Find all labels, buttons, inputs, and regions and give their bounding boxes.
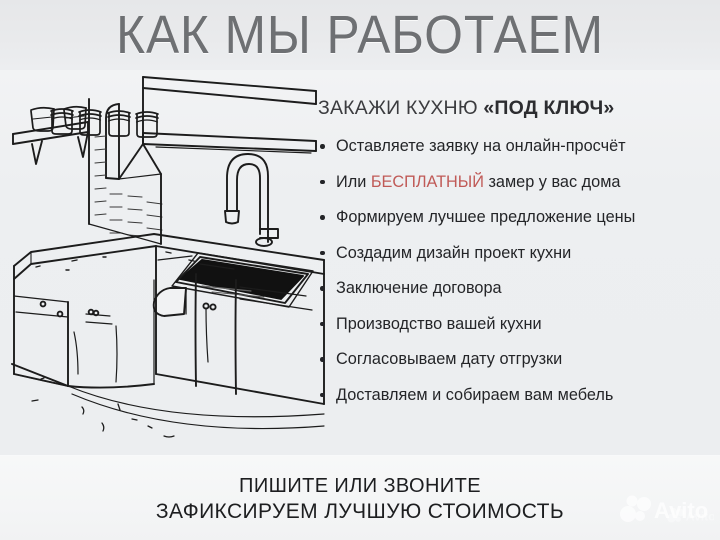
step-text-prefix: Формируем лучшее предложение цены xyxy=(336,208,635,226)
list-item: Формируем лучшее предложение цены xyxy=(318,207,714,227)
step-text-highlight: БЕСПЛАТНЫЙ xyxy=(371,173,484,191)
footer-line-2: ЗАФИКСИРУЕМ ЛУЧШУЮ СТОИМОСТЬ xyxy=(0,499,720,524)
counter-speckles xyxy=(36,252,194,270)
poster-root: КАК МЫ РАБОТАЕМ xyxy=(0,0,720,540)
list-item: Доставляем и собираем вам мебель xyxy=(318,385,714,405)
list-item: Оставляете заявку на онлайн-просчёт xyxy=(318,136,714,156)
list-item: Заключение договора xyxy=(318,278,714,298)
step-text-prefix: Доставляем и собираем вам мебель xyxy=(336,386,613,404)
base-cabinets-left xyxy=(14,279,68,386)
step-text-prefix: Создадим дизайн проект кухни xyxy=(336,244,571,262)
offer-subtitle-lead: ЗАКАЖИ КУХНЮ xyxy=(318,97,478,119)
list-item: Создадим дизайн проект кухни xyxy=(318,243,714,263)
list-item: Производство вашей кухни xyxy=(318,314,714,334)
step-text-prefix: Или xyxy=(336,173,371,191)
list-item: Согласовываем дату отгрузки xyxy=(318,349,714,369)
step-text-prefix: Согласовываем дату отгрузки xyxy=(336,350,562,368)
upper-shelf xyxy=(143,77,316,153)
footer-line-1: ПИШИТЕ ИЛИ ЗВОНИТЕ xyxy=(0,474,720,499)
step-text-prefix: Оставляете заявку на онлайн-просчёт xyxy=(336,137,626,155)
kitchen-illustration xyxy=(6,74,326,456)
cabinet-front-edge xyxy=(68,310,154,388)
step-text-suffix: замер у вас дома xyxy=(484,173,621,191)
footer-callout: ПИШИТЕ ИЛИ ЗВОНИТЕ ЗАФИКСИРУЕМ ЛУЧШУЮ СТ… xyxy=(0,474,720,524)
page-title: КАК МЫ РАБОТАЕМ xyxy=(29,6,691,64)
step-text-prefix: Заключение договора xyxy=(336,279,502,297)
offer-column: ЗАКАЖИ КУХНЮ «ПОД КЛЮЧ» Оставляете заявк… xyxy=(318,96,714,420)
offer-subtitle-emphasis: «ПОД КЛЮЧ» xyxy=(483,97,614,119)
offer-subtitle: ЗАКАЖИ КУХНЮ «ПОД КЛЮЧ» xyxy=(318,96,714,120)
gooseneck-faucet xyxy=(225,154,278,246)
list-item: Или БЕСПЛАТНЫЙ замер у вас дома xyxy=(318,172,714,192)
process-steps-list: Оставляете заявку на онлайн-просчёт Или … xyxy=(318,136,714,405)
shelf-jars xyxy=(51,109,158,137)
wall-baseline xyxy=(89,174,161,244)
step-text-prefix: Производство вашей кухни xyxy=(336,315,542,333)
